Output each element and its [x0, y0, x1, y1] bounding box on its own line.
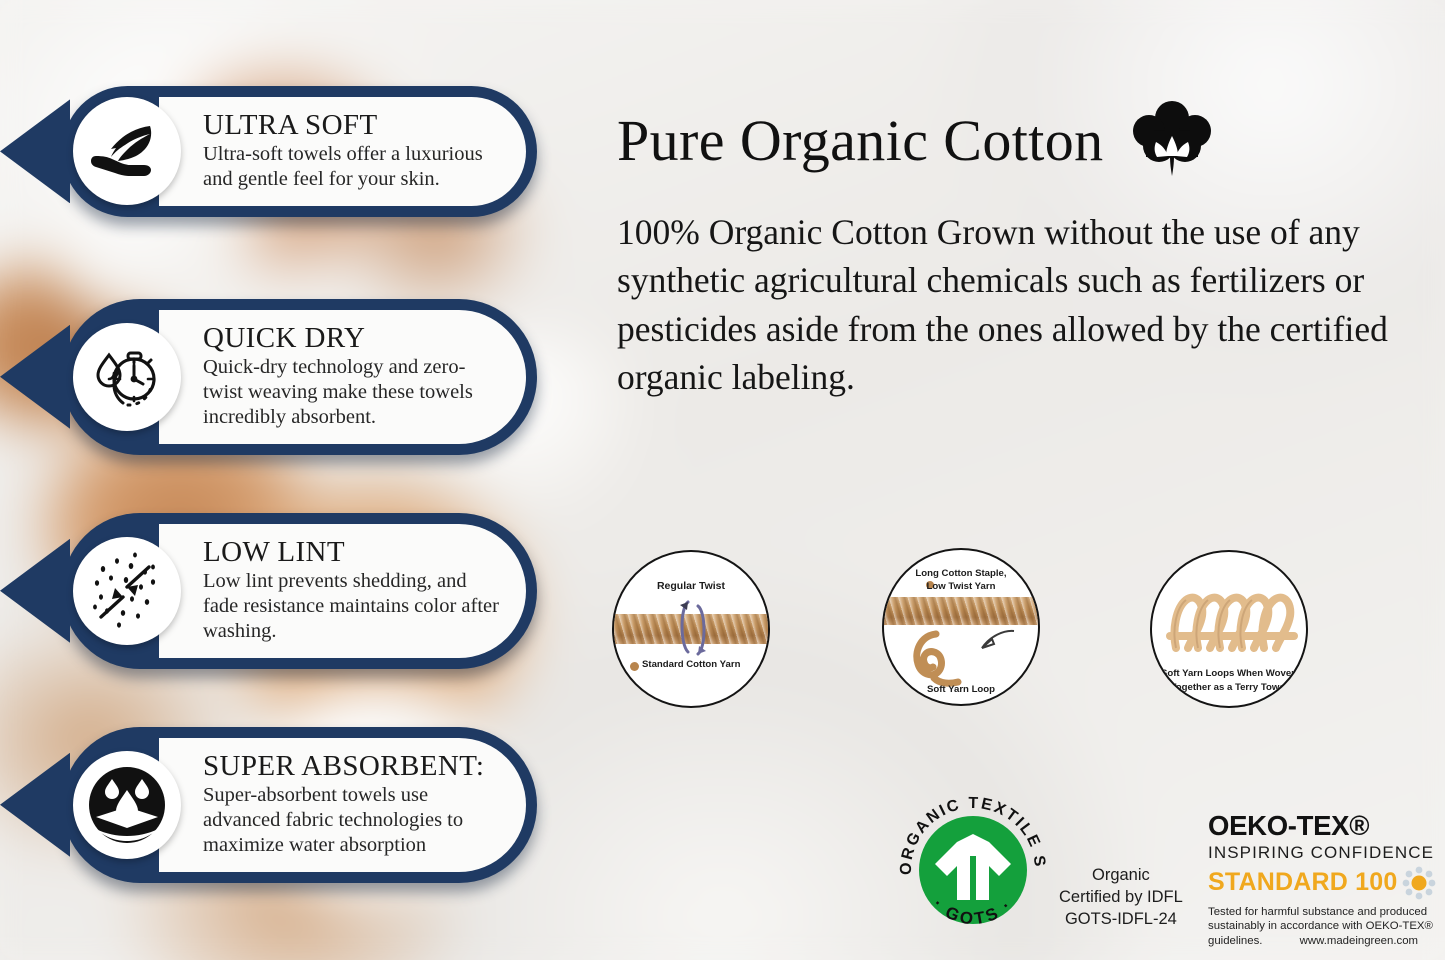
yarn-bottom-label: Soft Yarn Loop [884, 684, 1038, 696]
feature-description: Super-absorbent towels use advanced fabr… [203, 783, 500, 857]
oeko-tex-certification: OEKO-TEX® INSPIRING CONFIDENCE STANDARD … [1208, 812, 1436, 949]
feature-title: ULTRA SOFT [203, 110, 500, 140]
oeko-tex-url: www.madeingreen.com [1300, 935, 1418, 947]
oeko-tex-subtitle: INSPIRING CONFIDENCE [1208, 844, 1436, 861]
yarn-bottom-label: Standard Cotton Yarn [622, 659, 768, 671]
curved-arrow-icon [968, 628, 1016, 662]
lint-particles-arrows-icon [73, 537, 181, 645]
yarn-top-label-line2: Low Twist Yarn [884, 581, 1038, 593]
feature-description: Ultra-soft towels offer a luxurious and … [203, 142, 500, 192]
gots-certification-text: Organic Certified by IDFL GOTS-IDFL-24 [1059, 865, 1183, 930]
feature-badge-ultra-soft: ULTRA SOFT Ultra-soft towels offer a lux… [62, 86, 537, 217]
feature-badge-quick-dry: QUICK DRY Quick-dry technology and zero-… [62, 299, 537, 455]
gots-logo-icon: GLOBAL ORGANIC TEXTILE STANDARD · GOTS · [893, 790, 1053, 950]
yarn-diagram-low-twist: Long Cotton Staple, Low Twist Yarn Soft … [882, 548, 1040, 706]
feature-description: Quick-dry technology and zero-twist weav… [203, 355, 500, 429]
yarn-top-label: Regular Twist [614, 580, 768, 593]
feature-badge-super-absorbent: SUPER ABSORBENT: Super-absorbent towels … [62, 727, 537, 883]
body-paragraph: 100% Organic Cotton Grown without the us… [617, 208, 1417, 401]
oeko-tex-standard: STANDARD 100 [1208, 870, 1397, 895]
made-in-green-flower-icon [1402, 866, 1436, 900]
feature-title: QUICK DRY [203, 323, 500, 353]
gots-line-2: Certified by IDFL [1059, 887, 1183, 909]
gots-line-3: GOTS-IDFL-24 [1059, 909, 1183, 931]
oeko-fine-line-2: sustainably in accordance with OEKO-TEX® [1208, 919, 1436, 934]
oeko-tex-title: OEKO-TEX® [1208, 812, 1436, 840]
infographic-poster: ULTRA SOFT Ultra-soft towels offer a lux… [0, 0, 1445, 960]
oeko-tex-fine-print: Tested for harmful substance and produce… [1208, 905, 1436, 949]
yarn-top-label-line1: Long Cotton Staple, [884, 568, 1038, 580]
yarn-diagram-row: Regular Twist Standard Cotton Yarn Long … [612, 548, 1332, 714]
page-title: Pure Organic Cotton [617, 107, 1104, 174]
oeko-fine-line-1: Tested for harmful substance and produce… [1208, 905, 1436, 920]
terry-loops-shape [1162, 576, 1302, 662]
feature-description: Low lint prevents shedding, and fade res… [203, 569, 500, 643]
yarn-diagram-regular-twist: Regular Twist Standard Cotton Yarn [612, 550, 770, 708]
main-heading-row: Pure Organic Cotton [617, 100, 1218, 180]
cotton-boll-icon [1126, 100, 1218, 180]
twist-arrow-icon [676, 598, 710, 662]
yarn-diagram-terry-loops: Soft Yarn Loops When Woven Together as a… [1150, 550, 1308, 708]
feature-badge-low-lint: LOW LINT Low lint prevents shedding, and… [62, 513, 537, 669]
yarn-bottom-label-line2: Together as a Terry Towel [1152, 682, 1306, 694]
feature-title: LOW LINT [203, 537, 500, 567]
yarn-bottom-label-line1: Soft Yarn Loops When Woven [1152, 668, 1306, 680]
gots-certification: GLOBAL ORGANIC TEXTILE STANDARD · GOTS ·… [893, 790, 1183, 950]
oeko-fine-line-3: guidelines. [1208, 935, 1262, 947]
droplet-stopwatch-icon [73, 323, 181, 431]
feature-title: SUPER ABSORBENT: [203, 751, 500, 781]
water-drops-fabric-icon [73, 751, 181, 859]
gots-line-1: Organic [1059, 865, 1183, 887]
feather-in-hand-icon [73, 97, 181, 205]
soft-yarn-loop-shape [906, 630, 962, 692]
